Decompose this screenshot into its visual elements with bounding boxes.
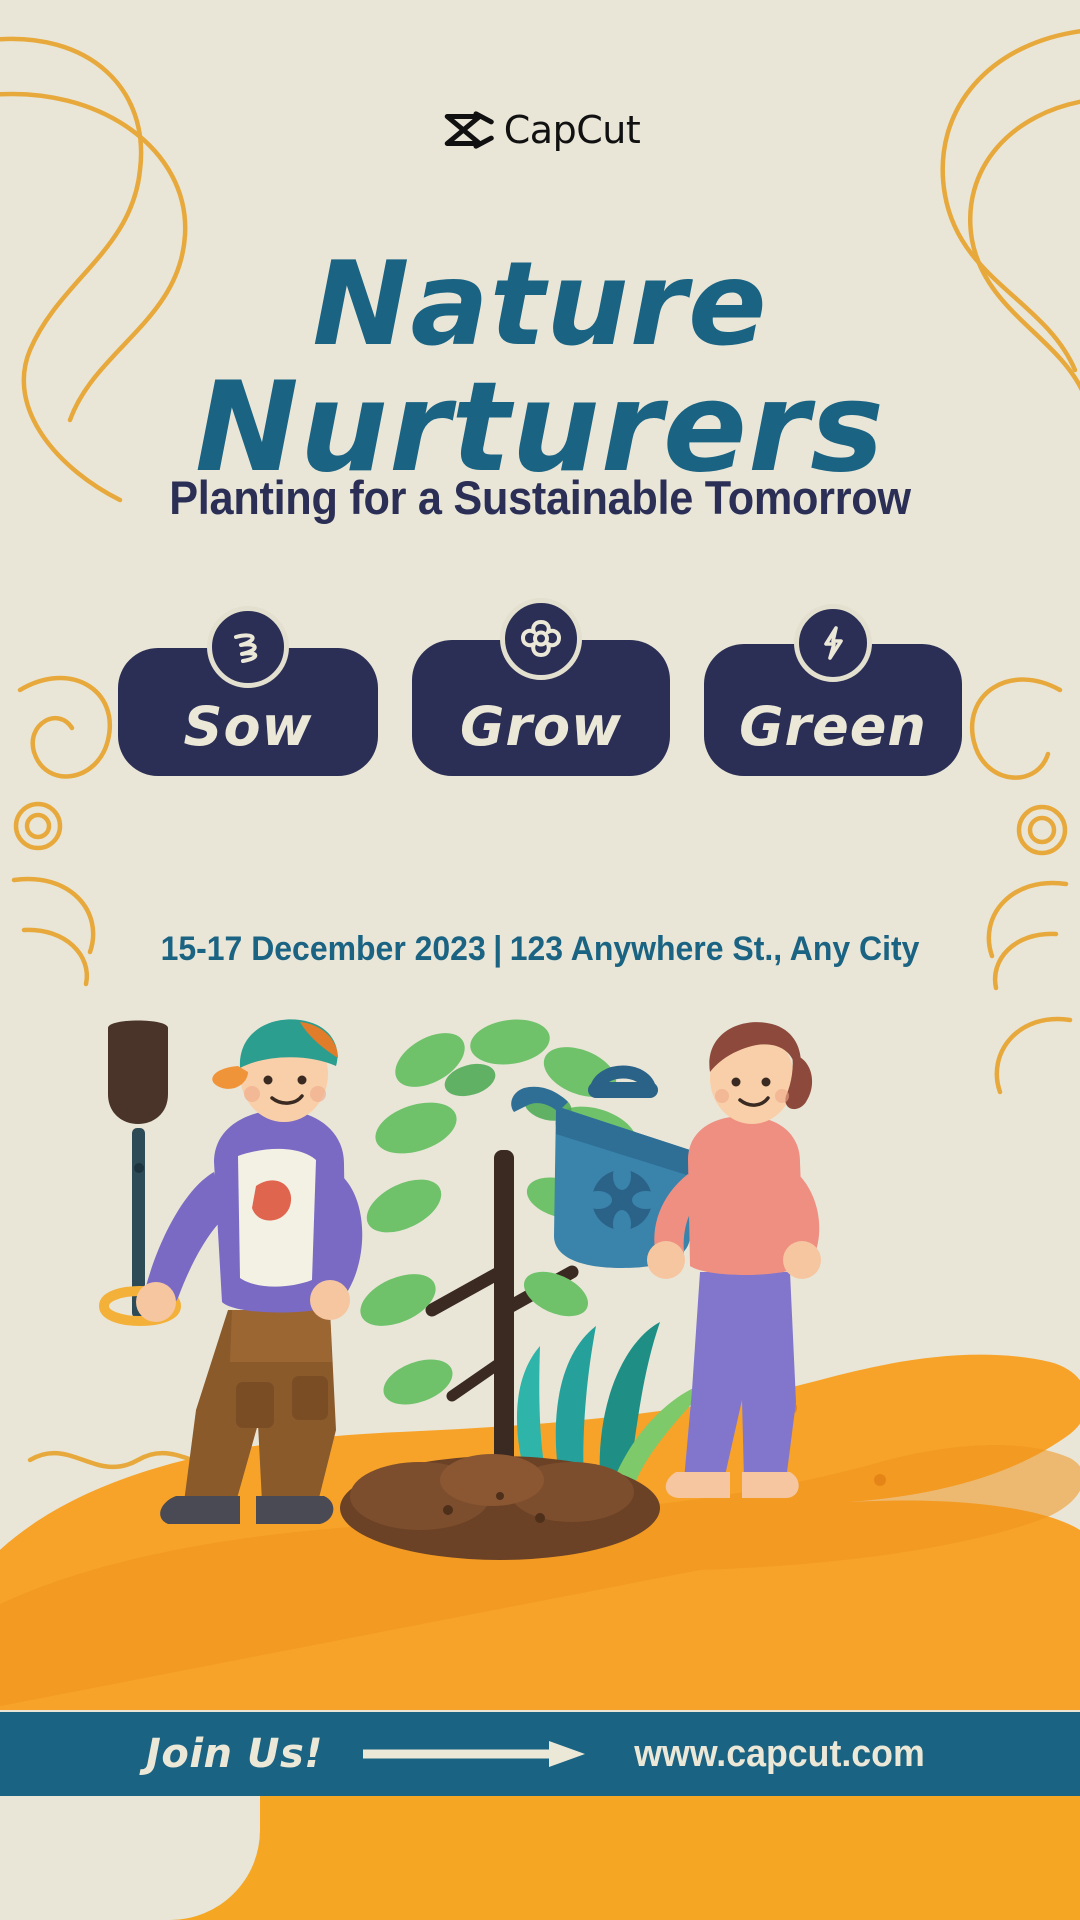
- title-line-1: Nature: [0, 248, 1080, 362]
- pill-grow[interactable]: Grow: [412, 640, 670, 776]
- feature-pill-group: Sow Grow Gr: [0, 640, 1080, 776]
- capcut-hourglass-icon: [440, 109, 494, 151]
- soil-mound: [340, 1454, 660, 1560]
- pill-green-label: Green: [739, 695, 927, 758]
- flower-icon: [500, 598, 582, 680]
- pill-grow-label: Grow: [460, 695, 622, 758]
- meta-separator: |: [486, 930, 510, 968]
- man-with-cap: [136, 1019, 362, 1524]
- squiggle-seed-icon: [207, 606, 289, 688]
- pill-sow[interactable]: Sow: [118, 648, 378, 776]
- lightning-bolt-icon: [794, 604, 872, 682]
- website-url[interactable]: www.capcut.com: [634, 1733, 924, 1776]
- brand-logo: CapCut: [0, 108, 1080, 152]
- footer-bar: [0, 1796, 1080, 1920]
- footer-notch: [0, 1796, 260, 1920]
- brand-wordmark: CapCut: [504, 108, 640, 152]
- planting-illustration: [0, 1010, 1080, 1710]
- event-details: 15-17 December 2023|123 Anywhere St., An…: [32, 930, 1047, 969]
- cta-banner[interactable]: Join Us! www.capcut.com: [0, 1712, 1080, 1796]
- page-title: Nature Nurturers: [0, 248, 1080, 489]
- poster-canvas: CapCut Nature Nurturers Planting for a S…: [0, 0, 1080, 1920]
- event-dates: 15-17 December 2023: [161, 930, 486, 968]
- page-subtitle: Planting for a Sustainable Tomorrow: [43, 470, 1037, 525]
- arrow-right-icon: [359, 1739, 589, 1769]
- pill-green[interactable]: Green: [704, 644, 962, 776]
- join-us-label: Join Us!: [146, 1731, 323, 1777]
- event-address: 123 Anywhere St., Any City: [510, 930, 920, 968]
- pill-sow-label: Sow: [184, 695, 313, 758]
